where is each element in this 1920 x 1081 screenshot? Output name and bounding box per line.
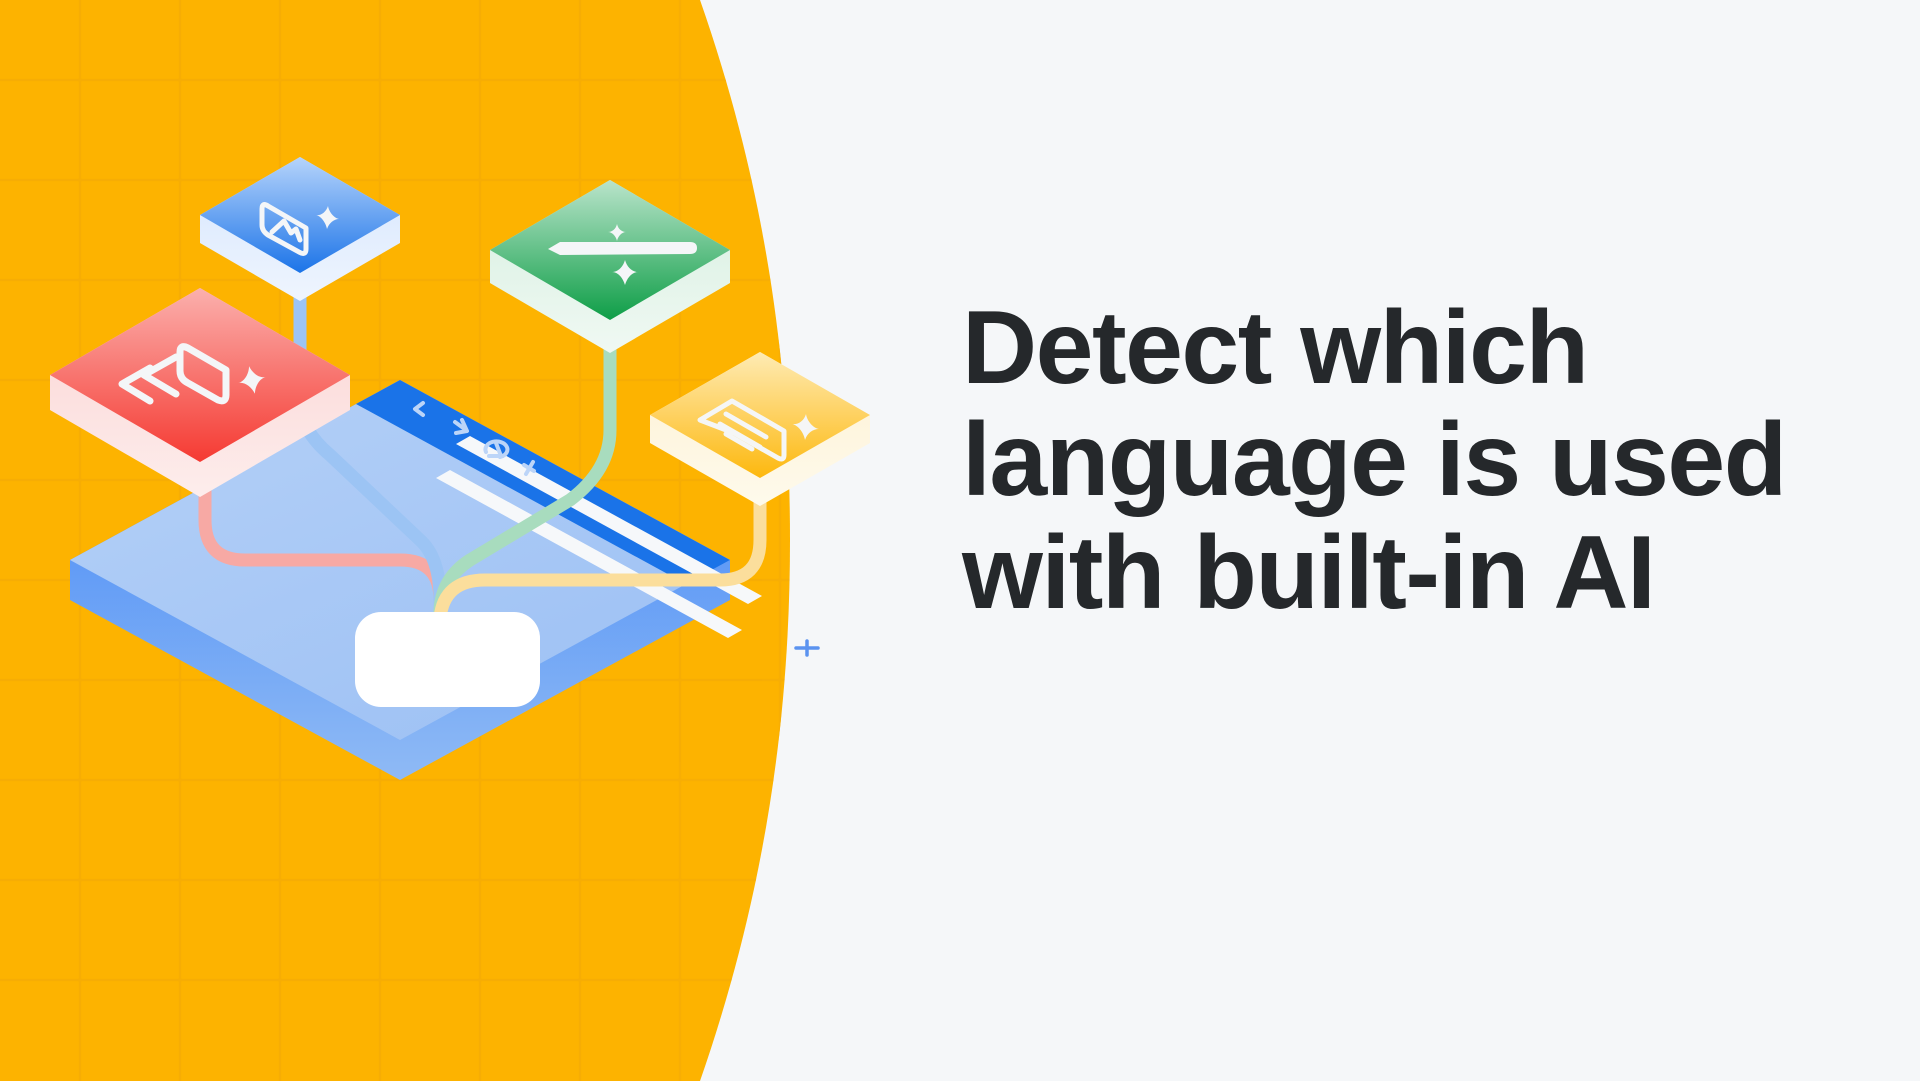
hero-banner: Detect which language is used with built… bbox=[0, 0, 1920, 1081]
orange-background-panel bbox=[0, 0, 830, 1081]
page-title: Detect which language is used with built… bbox=[962, 292, 1792, 629]
headline-block: Detect which language is used with built… bbox=[962, 292, 1792, 629]
